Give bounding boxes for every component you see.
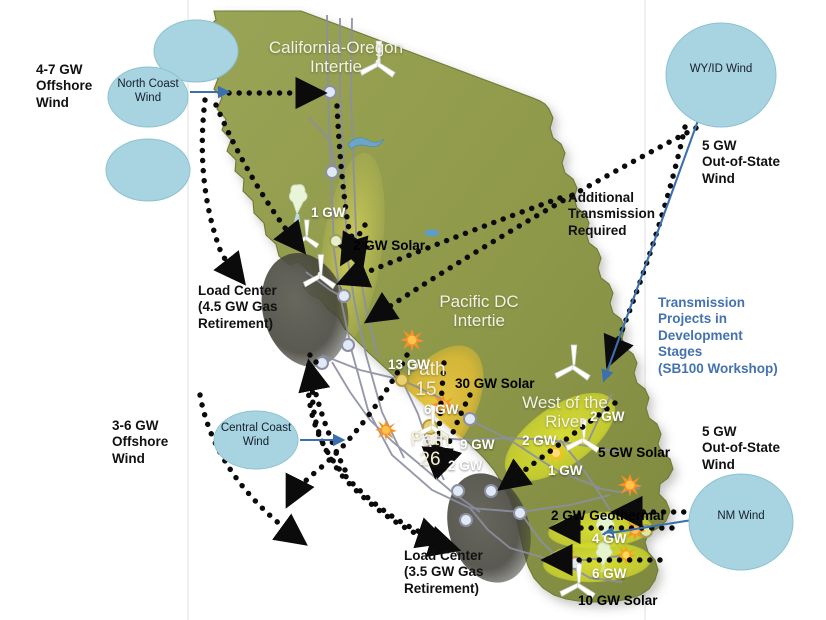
bubble-unlabeled-mid [106,139,190,201]
gw-label-6-path15: 6 GW [424,402,459,418]
bubble-label-wyid-wind: WY/ID Wind [681,63,761,77]
bubble-label-nm-wind: NM Wind [701,510,781,524]
gw-label-9-path15: 9 GW [460,437,495,453]
gw-label-13: 13 GW [388,357,430,373]
gw-label-2-west-lower: 2 GW [522,433,557,449]
gw-label-6-south: 6 GW [592,566,627,582]
gw-label-2-west-upper: 2 GW [590,409,625,425]
label-north-offshore-wind: 4-7 GW Offshore Wind [36,62,156,111]
load-center-label-north: Load Center (4.5 GW Gas Retirement) [198,283,328,332]
gw-label-1-north: 1 GW [311,205,346,221]
label-additional-transmission-required: Additional Transmission Required [568,190,698,239]
region-label-pacific-dc-intertie: Pacific DC Intertie [424,292,534,330]
label-central-offshore-wind: 3-6 GW Offshore Wind [112,418,232,467]
gw-label-1-west: 1 GW [548,463,583,479]
label-nm-out-of-state-wind: 5 GW Out-of-State Wind [702,424,826,473]
region-label-california-oregon-intertie: California-Oregon Intertie [266,38,406,76]
gw-label-2-geothermal: 2 GW Geothermal [551,508,664,524]
label-wyid-out-of-state-wind: 5 GW Out-of-State Wind [702,138,826,187]
gw-label-5-solar-west: 5 GW Solar [598,445,670,461]
load-center-label-south: Load Center (3.5 GW Gas Retirement) [404,548,534,597]
gw-label-4-south: 4 GW [592,531,627,547]
diagram-canvas: North Coast Wind Central Coast Wind WY/I… [0,0,826,620]
gw-label-30-solar: 30 GW Solar [455,376,535,392]
gw-label-10-solar: 10 GW Solar [578,593,658,609]
gw-label-2-path26: 2 GW [448,458,483,474]
gw-label-2-solar-central: 2 GW Solar [353,238,425,254]
label-transmission-projects-in-development: Transmission Projects in Development Sta… [658,295,826,377]
